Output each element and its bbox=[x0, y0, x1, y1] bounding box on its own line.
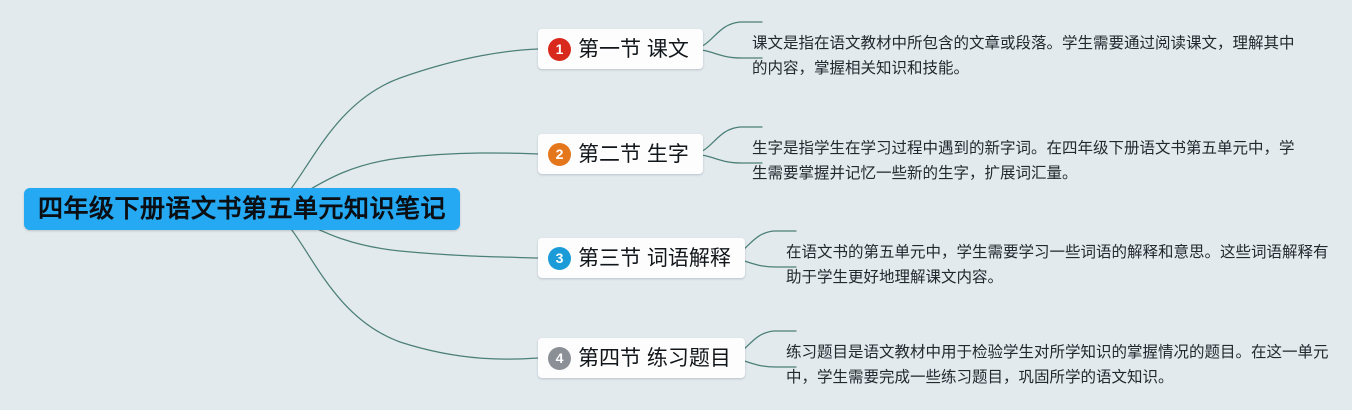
topic-1-number-badge: 1 bbox=[548, 38, 571, 61]
description-3: 在语文书的第五单元中，学生需要学习一些词语的解释和意思。这些词语解释有 助于学生… bbox=[786, 240, 1306, 290]
topic-node-2[interactable]: 2 第二节 生字 bbox=[538, 134, 703, 174]
description-2-line-1: 生字是指学生在学习过程中遇到的新字词。在四年级下册语文书第五单元中，学 bbox=[752, 136, 1292, 161]
mindmap-canvas: 四年级下册语文书第五单元知识笔记 1 第一节 课文 课文是指在语文教材中所包含的… bbox=[0, 0, 1352, 410]
topic-3-number-badge: 3 bbox=[548, 247, 571, 270]
topic-node-1[interactable]: 1 第一节 课文 bbox=[538, 29, 703, 69]
root-node-label: 四年级下册语文书第五单元知识笔记 bbox=[38, 197, 446, 222]
topic-3-label: 第三节 词语解释 bbox=[578, 248, 731, 269]
description-2: 生字是指学生在学习过程中遇到的新字词。在四年级下册语文书第五单元中，学 生需要掌… bbox=[752, 136, 1292, 186]
description-2-line-2: 生需要掌握并记忆一些新的生字，扩展词汇量。 bbox=[752, 161, 1292, 186]
description-4: 练习题目是语文教材中用于检验学生对所学知识的掌握情况的题目。在这一单元 中，学生… bbox=[786, 340, 1306, 390]
description-4-line-2: 中，学生需要完成一些练习题目，巩固所学的语文知识。 bbox=[786, 365, 1306, 390]
description-1-line-2: 的内容，掌握相关知识和技能。 bbox=[752, 56, 1292, 81]
description-1: 课文是指在语文教材中所包含的文章或段落。学生需要通过阅读课文，理解其中 的内容，… bbox=[752, 31, 1292, 81]
description-3-line-2: 助于学生更好地理解课文内容。 bbox=[786, 265, 1306, 290]
root-node[interactable]: 四年级下册语文书第五单元知识笔记 bbox=[24, 188, 460, 230]
description-1-line-1: 课文是指在语文教材中所包含的文章或段落。学生需要通过阅读课文，理解其中 bbox=[752, 31, 1292, 56]
topic-node-4[interactable]: 4 第四节 练习题目 bbox=[538, 338, 745, 378]
topic-4-label: 第四节 练习题目 bbox=[578, 348, 731, 369]
topic-node-3[interactable]: 3 第三节 词语解释 bbox=[538, 238, 745, 278]
description-4-line-1: 练习题目是语文教材中用于检验学生对所学知识的掌握情况的题目。在这一单元 bbox=[786, 340, 1306, 365]
topic-2-number-badge: 2 bbox=[548, 143, 571, 166]
description-3-line-1: 在语文书的第五单元中，学生需要学习一些词语的解释和意思。这些词语解释有 bbox=[786, 240, 1306, 265]
connector-root-to-topic-4 bbox=[265, 209, 538, 359]
topic-4-number-badge: 4 bbox=[548, 347, 571, 370]
topic-1-label: 第一节 课文 bbox=[578, 39, 689, 60]
topic-2-label: 第二节 生字 bbox=[578, 144, 689, 165]
connector-root-to-topic-1 bbox=[265, 49, 538, 209]
